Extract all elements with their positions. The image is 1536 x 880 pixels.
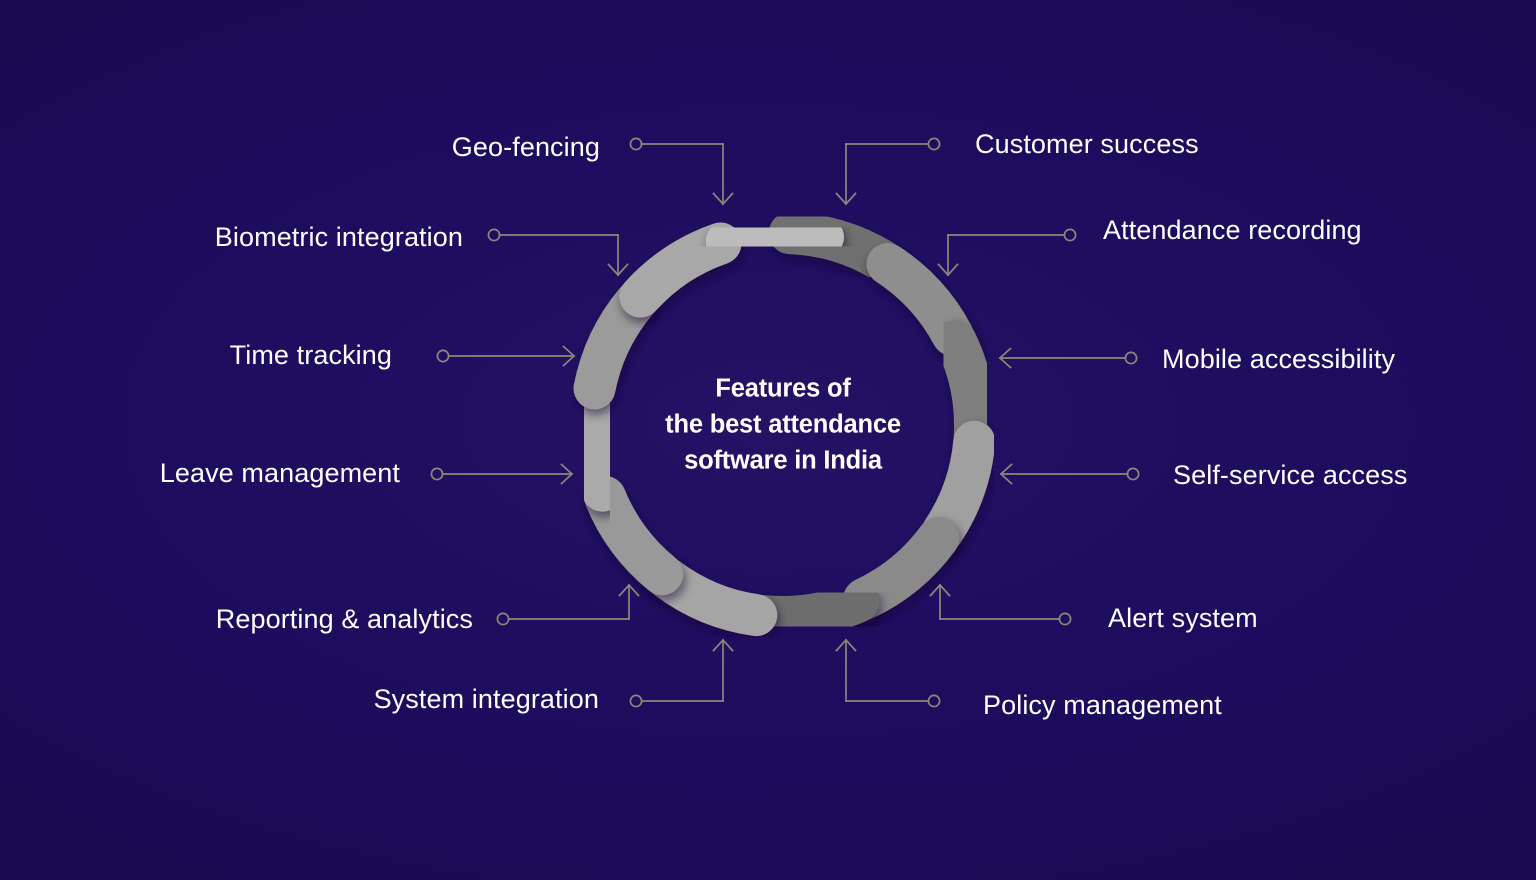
feature-label-geo-fencing[interactable]: Geo-fencing <box>0 134 600 161</box>
connector-mobile-accessibility <box>1000 349 1137 368</box>
feature-label-reporting-analytics[interactable]: Reporting & analytics <box>0 606 473 633</box>
feature-label-time-tracking[interactable]: Time tracking <box>0 342 392 369</box>
connector-leave-management <box>431 465 572 484</box>
feature-label-policy-management[interactable]: Policy management <box>983 692 1222 719</box>
diagram-graphics <box>0 0 1536 880</box>
connector-endpoint-dot <box>437 350 448 361</box>
feature-label-biometric-integration[interactable]: Biometric integration <box>0 224 463 251</box>
connector-attendance-recording <box>939 229 1076 275</box>
feature-label-attendance-recording[interactable]: Attendance recording <box>1103 217 1362 244</box>
connector-biometric-integration <box>488 229 627 275</box>
feature-label-alert-system[interactable]: Alert system <box>1108 605 1258 632</box>
feature-label-system-integration[interactable]: System integration <box>0 686 599 713</box>
ring-segment <box>591 395 603 491</box>
connector-self-service-access <box>1001 465 1139 484</box>
connector-endpoint-dot <box>431 468 442 479</box>
feature-label-mobile-accessibility[interactable]: Mobile accessibility <box>1162 346 1395 373</box>
connector-endpoint-dot <box>497 613 508 624</box>
connector-endpoint-dot <box>630 138 641 149</box>
connector-endpoint-dot <box>928 138 939 149</box>
connector-reporting-analytics <box>497 585 638 625</box>
diagram-canvas: Features of the best attendance software… <box>0 0 1536 880</box>
connector-endpoint-dot <box>928 695 939 706</box>
connector-customer-success <box>837 138 940 204</box>
feature-label-leave-management[interactable]: Leave management <box>0 460 400 487</box>
connector-time-tracking <box>437 347 574 366</box>
ring-segment <box>727 233 823 241</box>
connector-endpoint-dot <box>630 695 641 706</box>
connector-geo-fencing <box>630 138 732 204</box>
connector-alert-system <box>931 585 1071 625</box>
connector-endpoint-dot <box>1059 613 1070 624</box>
connector-endpoint-dot <box>488 229 499 240</box>
feature-label-customer-success[interactable]: Customer success <box>975 131 1199 158</box>
feature-label-self-service-access[interactable]: Self-service access <box>1173 462 1407 489</box>
connector-endpoint-dot <box>1125 352 1136 363</box>
feature-ring <box>591 233 975 617</box>
connector-system-integration <box>630 640 732 707</box>
connector-policy-management <box>837 640 940 707</box>
connector-endpoint-dot <box>1064 229 1075 240</box>
connector-endpoint-dot <box>1127 468 1138 479</box>
